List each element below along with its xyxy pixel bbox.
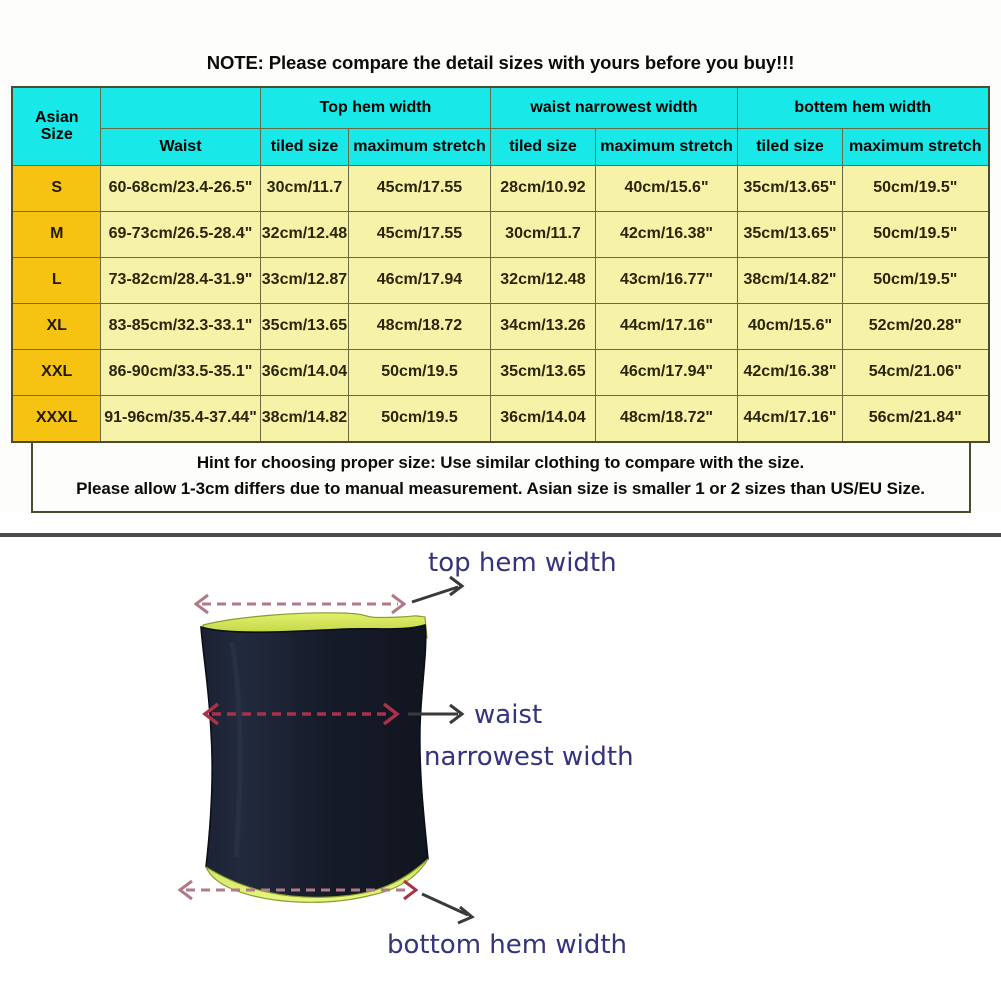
label-waist: waist: [474, 700, 542, 730]
header-waist-maximum-stretch: maximum stretch: [595, 129, 737, 166]
label-waist-narrowest-width: narrowest width: [424, 742, 634, 772]
cell-bottom-tiled: 35cm/13.65": [738, 212, 843, 258]
table-row: XXL 86-90cm/33.5-35.1" 36cm/14.04 50cm/1…: [12, 350, 988, 396]
cell-waist-tiled: 32cm/12.48: [490, 258, 595, 304]
label-top-hem-width: top hem width: [428, 548, 617, 578]
table-row: XXXL 91-96cm/35.4-37.44" 38cm/14.82 50cm…: [12, 396, 988, 443]
cell-waist-tiled: 36cm/14.04: [490, 396, 595, 443]
cell-size: XL: [12, 304, 100, 350]
header-bottom-tiled-size: tiled size: [738, 129, 843, 166]
header-group-bottom-hem: bottem hem width: [738, 87, 989, 129]
cell-waist-tiled: 30cm/11.7: [490, 212, 595, 258]
cell-bottom-tiled: 38cm/14.82": [738, 258, 843, 304]
header-waist: Waist: [100, 129, 260, 166]
cell-top-tiled: 38cm/14.82: [260, 396, 348, 443]
cell-top-tiled: 30cm/11.7: [260, 166, 348, 212]
cell-top-stretch: 50cm/19.5: [348, 396, 490, 443]
table-row: M 69-73cm/26.5-28.4" 32cm/12.48 45cm/17.…: [12, 212, 988, 258]
cell-bottom-tiled: 42cm/16.38": [738, 350, 843, 396]
table-row: L 73-82cm/28.4-31.9" 33cm/12.87 46cm/17.…: [12, 258, 988, 304]
cell-top-tiled: 32cm/12.48: [260, 212, 348, 258]
cell-top-tiled: 33cm/12.87: [260, 258, 348, 304]
header-asian-size-line1: Asian: [13, 110, 100, 127]
header-group-top-hem: Top hem width: [260, 87, 490, 129]
top-hem-leader-arrowhead: [450, 577, 462, 595]
cell-waist: 60-68cm/23.4-26.5": [100, 166, 260, 212]
cell-waist: 86-90cm/33.5-35.1": [100, 350, 260, 396]
cell-waist-tiled: 34cm/13.26: [490, 304, 595, 350]
cell-size: XXXL: [12, 396, 100, 443]
cell-top-stretch: 45cm/17.55: [348, 212, 490, 258]
cell-bottom-stretch: 56cm/21.84": [843, 396, 989, 443]
label-bottom-hem-width: bottom hem width: [387, 930, 627, 960]
cell-top-stretch: 46cm/17.94: [348, 258, 490, 304]
header-bottom-maximum-stretch: maximum stretch: [843, 129, 989, 166]
cell-bottom-tiled: 44cm/17.16": [738, 396, 843, 443]
cell-bottom-stretch: 50cm/19.5": [843, 212, 989, 258]
cell-top-stretch: 50cm/19.5: [348, 350, 490, 396]
cell-waist-stretch: 48cm/18.72": [595, 396, 737, 443]
cell-waist-stretch: 40cm/15.6": [595, 166, 737, 212]
bottom-hem-leader-line: [422, 894, 468, 915]
cell-bottom-stretch: 50cm/19.5": [843, 258, 989, 304]
table-row: XL 83-85cm/32.3-33.1" 35cm/13.65 48cm/18…: [12, 304, 988, 350]
cell-waist: 91-96cm/35.4-37.44": [100, 396, 260, 443]
cell-top-stretch: 45cm/17.55: [348, 166, 490, 212]
hint-line-2: Please allow 1-3cm differs due to manual…: [33, 476, 969, 502]
cell-bottom-stretch: 54cm/21.06": [843, 350, 989, 396]
header-top-maximum-stretch: maximum stretch: [348, 129, 490, 166]
header-asian-size: Asian Size: [12, 87, 100, 166]
cell-waist-stretch: 43cm/16.77": [595, 258, 737, 304]
cell-size: L: [12, 258, 100, 304]
cell-bottom-stretch: 52cm/20.28": [843, 304, 989, 350]
cell-size: XXL: [12, 350, 100, 396]
header-top-tiled-size: tiled size: [260, 129, 348, 166]
header-group-waist-narrowest: waist narrowest width: [490, 87, 737, 129]
cell-waist-tiled: 28cm/10.92: [490, 166, 595, 212]
cell-waist: 73-82cm/28.4-31.9": [100, 258, 260, 304]
cell-waist-tiled: 35cm/13.65: [490, 350, 595, 396]
size-chart-table: Asian Size Top hem width waist narrowest…: [11, 86, 989, 443]
cell-top-tiled: 35cm/13.65: [260, 304, 348, 350]
cell-bottom-tiled: 35cm/13.65": [738, 166, 843, 212]
table-group-header-row: Asian Size Top hem width waist narrowest…: [12, 87, 988, 129]
size-chart-block: NOTE: Please compare the detail sizes wi…: [0, 0, 1001, 513]
top-hem-measure-arrow: [196, 577, 462, 613]
hint-section: Hint for choosing proper size: Use simil…: [31, 443, 971, 513]
cell-waist: 69-73cm/26.5-28.4": [100, 212, 260, 258]
table-row: S 60-68cm/23.4-26.5" 30cm/11.7 45cm/17.5…: [12, 166, 988, 212]
note-banner: NOTE: Please compare the detail sizes wi…: [0, 0, 1001, 86]
cell-bottom-stretch: 50cm/19.5": [843, 166, 989, 212]
header-asian-size-line2: Size: [13, 127, 100, 144]
cell-size: S: [12, 166, 100, 212]
cell-waist-stretch: 42cm/16.38": [595, 212, 737, 258]
header-group-waist: [100, 87, 260, 129]
table-sub-header-row: Waist tiled size maximum stretch tiled s…: [12, 129, 988, 166]
cell-waist-stretch: 44cm/17.16": [595, 304, 737, 350]
cell-top-stretch: 48cm/18.72: [348, 304, 490, 350]
cell-bottom-tiled: 40cm/15.6": [738, 304, 843, 350]
cell-waist: 83-85cm/32.3-33.1": [100, 304, 260, 350]
cell-size: M: [12, 212, 100, 258]
cell-waist-stretch: 46cm/17.94": [595, 350, 737, 396]
hint-line-1: Hint for choosing proper size: Use simil…: [33, 450, 969, 476]
cell-top-tiled: 36cm/14.04: [260, 350, 348, 396]
header-waist-tiled-size: tiled size: [490, 129, 595, 166]
waist-trainer-illustration: [201, 613, 428, 902]
